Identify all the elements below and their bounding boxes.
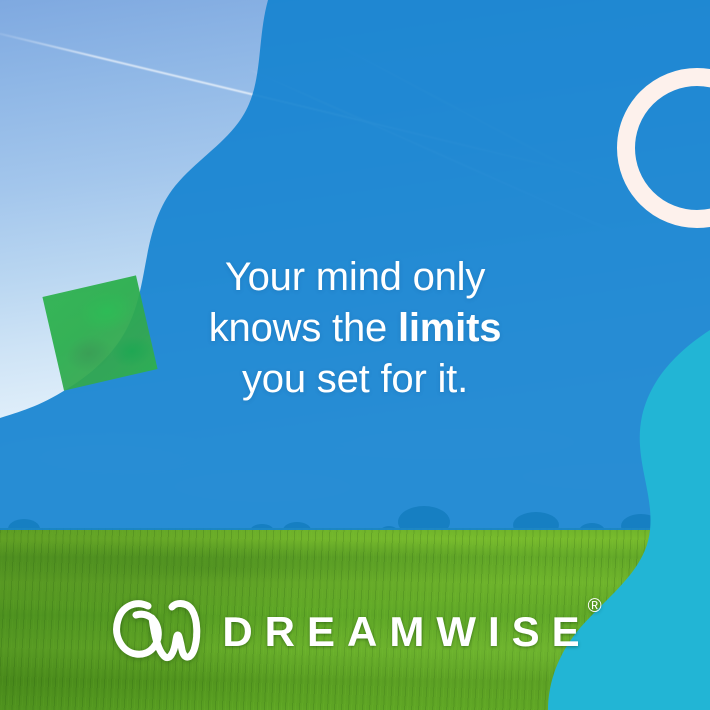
quote-line-1: Your mind only	[0, 252, 710, 303]
brand-logo-lockup: DREAMWISE ®	[0, 596, 710, 668]
quote-line-2: knows the limits	[0, 303, 710, 354]
quote-line-2-prefix: knows the	[209, 306, 398, 350]
wordmark-wrap: DREAMWISE ®	[222, 611, 601, 653]
registered-trademark-icon: ®	[588, 597, 602, 616]
quote-line-3: you set for it.	[0, 354, 710, 405]
dreamwise-monogram-icon	[108, 596, 204, 668]
quote-text: Your mind only knows the limits you set …	[0, 252, 710, 405]
quote-emphasis: limits	[398, 306, 501, 350]
brand-wordmark: DREAMWISE	[222, 611, 591, 653]
social-media-card: Your mind only knows the limits you set …	[0, 0, 710, 710]
